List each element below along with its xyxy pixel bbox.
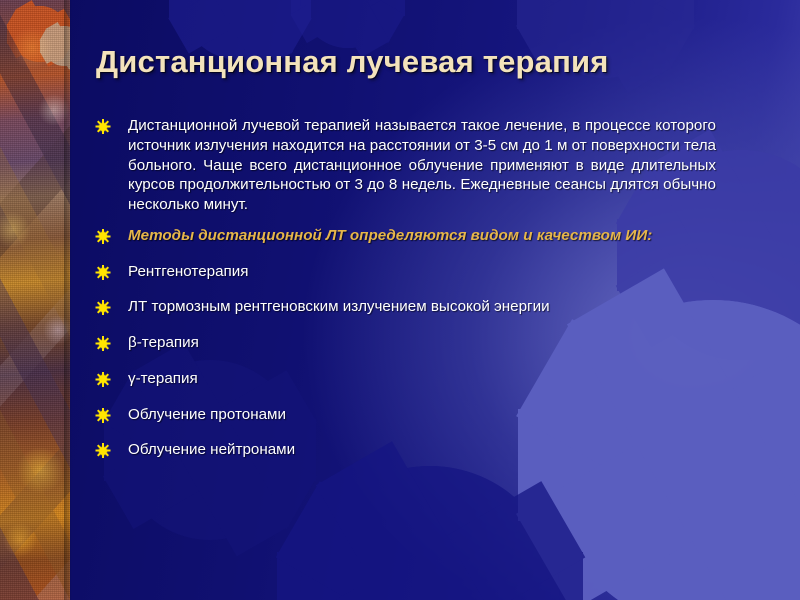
list-item-text: γ-терапия xyxy=(128,369,716,389)
list-item: β-терапия xyxy=(96,333,716,353)
list-item-text: Облучение нейтронами xyxy=(128,440,716,460)
list-item: Дистанционной лучевой терапией называетс… xyxy=(96,116,716,215)
slide-title: Дистанционная лучевая терапия xyxy=(96,44,756,80)
list-item-text: Методы дистанционной ЛТ определяются вид… xyxy=(128,226,716,246)
list-item: Облучение протонами xyxy=(96,405,716,425)
presentation-slide: Дистанционная лучевая терапия Дистанцион… xyxy=(0,0,800,600)
list-item: γ-терапия xyxy=(96,369,716,389)
list-item: ЛТ тормозным рентгеновским излучением вы… xyxy=(96,297,716,317)
list-item-text: Облучение протонами xyxy=(128,405,716,425)
sun-burst-bullet-icon xyxy=(96,266,109,279)
sun-burst-bullet-icon xyxy=(96,409,109,422)
bullet-list: Дистанционной лучевой терапией называетс… xyxy=(96,116,716,467)
sun-burst-bullet-icon xyxy=(96,301,109,314)
slide-content: Дистанционная лучевая терапия Дистанцион… xyxy=(0,0,800,600)
list-item: Методы дистанционной ЛТ определяются вид… xyxy=(96,226,716,246)
sun-burst-bullet-icon xyxy=(96,444,109,457)
list-item-text: β-терапия xyxy=(128,333,716,353)
list-item: Рентгенотерапия xyxy=(96,262,716,282)
list-item-text: Рентгенотерапия xyxy=(128,262,716,282)
sun-burst-bullet-icon xyxy=(96,373,109,386)
sun-burst-bullet-icon xyxy=(96,120,109,133)
sun-burst-bullet-icon xyxy=(96,337,109,350)
list-item-text: ЛТ тормозным рентгеновским излучением вы… xyxy=(128,297,716,317)
sun-burst-bullet-icon xyxy=(96,230,109,243)
list-item-text: Дистанционной лучевой терапией называетс… xyxy=(128,116,716,215)
list-item: Облучение нейтронами xyxy=(96,440,716,460)
